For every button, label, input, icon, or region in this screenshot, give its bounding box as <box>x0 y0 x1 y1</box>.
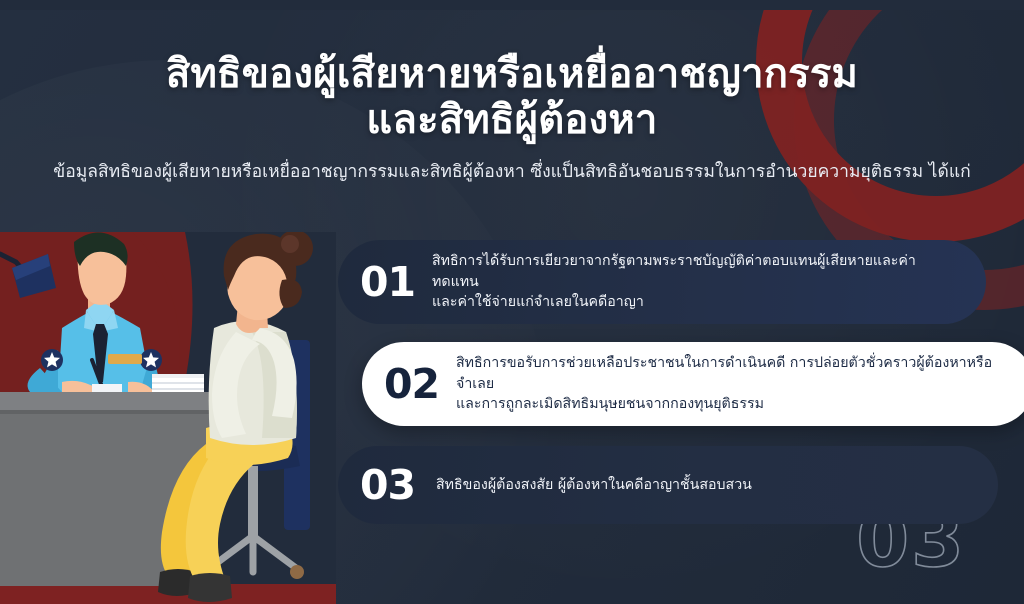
list-item[interactable]: 03 สิทธิของผู้ต้องสงสัย ผู้ต้องหาในคดีอา… <box>338 446 998 524</box>
list-item-text-line-1: สิทธิการได้รับการเยียวยาจากรัฐตามพระราชบ… <box>432 251 960 292</box>
infographic-canvas: สิทธิของผู้เสียหายหรือเหยื่ออาชญากรรม แล… <box>0 0 1024 604</box>
list-item-text-line-1: สิทธิการขอรับการช่วยเหลือประชาชนในการดำเ… <box>456 353 1008 394</box>
list-item[interactable]: 01 สิทธิการได้รับการเยียวยาจากรัฐตามพระร… <box>338 240 986 324</box>
page-title: สิทธิของผู้เสียหายหรือเหยื่ออาชญากรรม แล… <box>0 0 1024 143</box>
header: สิทธิของผู้เสียหายหรือเหยื่ออาชญากรรม แล… <box>0 0 1024 184</box>
list-item-number: 03 <box>360 465 436 506</box>
page-subtitle: ข้อมูลสิทธิของผู้เสียหายหรือเหยื่ออาชญาก… <box>0 161 1024 184</box>
list-item-number: 02 <box>384 364 456 405</box>
title-line-2: และสิทธิผู้ต้องหา <box>0 98 1024 144</box>
list-item-text: สิทธิการขอรับการช่วยเหลือประชาชนในการดำเ… <box>456 353 1008 415</box>
list-item-text: สิทธิการได้รับการเยียวยาจากรัฐตามพระราชบ… <box>432 251 960 313</box>
chair-wheel <box>290 565 304 579</box>
list-item-text-line-2: และการถูกละเมิดสิทธิมนุษยชนจากกองทุนยุติ… <box>456 394 1008 415</box>
title-line-1: สิทธิของผู้เสียหายหรือเหยื่ออาชญากรรม <box>166 51 858 97</box>
list-item-highlighted[interactable]: 02 สิทธิการขอรับการช่วยเหลือประชาชนในการ… <box>362 342 1024 426</box>
list-item-text: สิทธิของผู้ต้องสงสัย ผู้ต้องหาในคดีอาญาช… <box>436 475 752 496</box>
rights-list: 01 สิทธิการได้รับการเยียวยาจากรัฐตามพระร… <box>0 240 1024 524</box>
woman-boot-front <box>188 573 232 602</box>
list-item-text-line-1: สิทธิของผู้ต้องสงสัย ผู้ต้องหาในคดีอาญาช… <box>436 475 752 496</box>
list-item-number: 01 <box>360 262 432 303</box>
list-item-text-line-2: และค่าใช้จ่ายแก่จำเลยในคดีอาญา <box>432 292 960 313</box>
